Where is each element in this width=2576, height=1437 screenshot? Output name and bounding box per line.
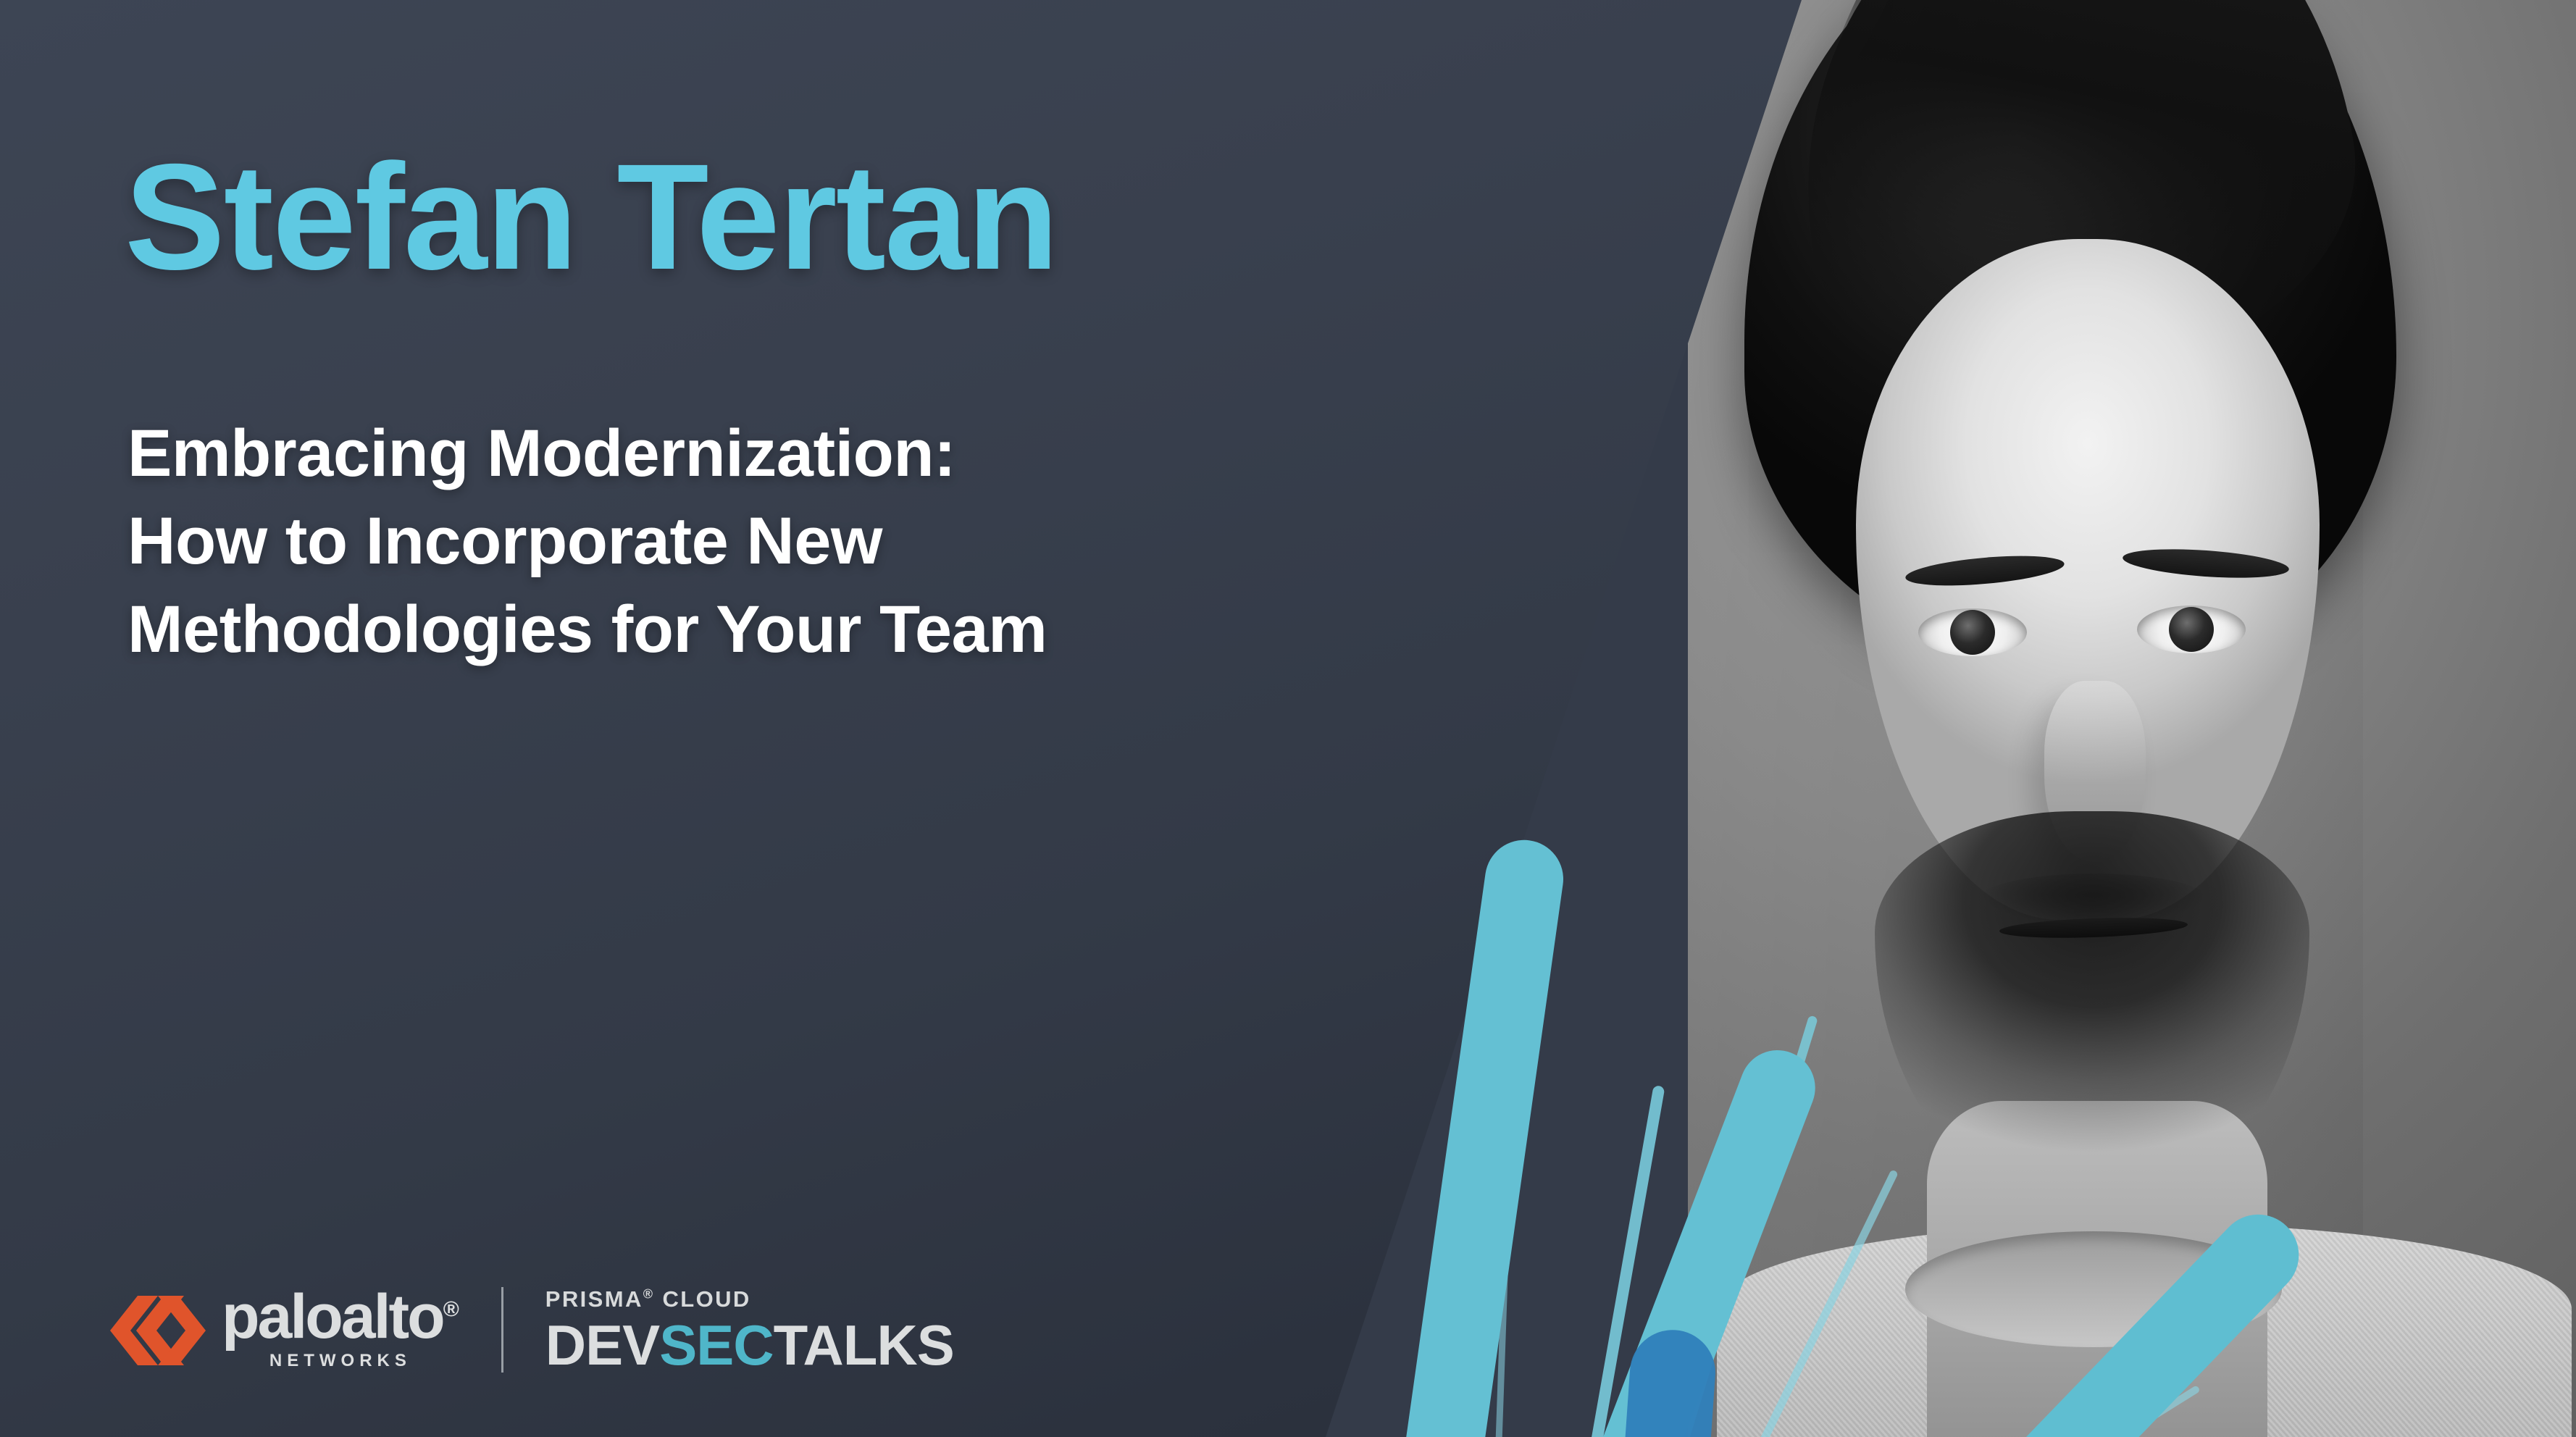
devsectalks-logo: PRISMA® CLOUD DEVSECTALKS bbox=[545, 1286, 954, 1373]
registered-mark-icon: ® bbox=[643, 1287, 655, 1302]
prisma-text: PRISMA bbox=[545, 1286, 643, 1312]
talk-title: Embracing Modernization: How to Incorpor… bbox=[127, 410, 1047, 674]
palo-alto-name: paloalto bbox=[222, 1282, 443, 1352]
logo-divider bbox=[501, 1287, 503, 1373]
portrait-collar bbox=[1905, 1231, 2282, 1347]
dev-text: DEV bbox=[545, 1313, 659, 1377]
talk-title-line-1: Embracing Modernization: bbox=[127, 410, 1047, 498]
footer-logo-lockup: paloalto® NETWORKS PRISMA® CLOUD DEVSECT… bbox=[110, 1286, 954, 1373]
palo-alto-networks-logo: paloalto® NETWORKS bbox=[110, 1289, 459, 1370]
devsectalks-wordmark: DEVSECTALKS bbox=[545, 1317, 954, 1373]
portrait-eye-left bbox=[1918, 608, 2027, 656]
palo-alto-chevron-icon bbox=[110, 1290, 206, 1371]
speaker-name: Stefan Tertan bbox=[125, 142, 1058, 293]
palo-alto-text: paloalto® bbox=[222, 1289, 459, 1346]
speaker-portrait-photo bbox=[1688, 0, 2576, 1437]
portrait-iris-right bbox=[2169, 607, 2214, 652]
cloud-text: CLOUD bbox=[662, 1286, 750, 1312]
portrait-eye-right bbox=[2137, 606, 2246, 653]
prisma-cloud-eyebrow: PRISMA® CLOUD bbox=[545, 1286, 954, 1312]
talk-title-line-2: How to Incorporate New bbox=[127, 498, 1047, 585]
registered-mark-icon: ® bbox=[443, 1298, 459, 1322]
palo-alto-tagline: NETWORKS bbox=[222, 1351, 459, 1371]
slide-content: Stefan Tertan Embracing Modernization: H… bbox=[125, 0, 1501, 1437]
portrait-iris-left bbox=[1950, 610, 1995, 655]
talks-text: TALKS bbox=[774, 1313, 954, 1377]
palo-alto-wordmark: paloalto® NETWORKS bbox=[222, 1289, 459, 1370]
sec-text: SEC bbox=[659, 1313, 773, 1377]
title-slide: Stefan Tertan Embracing Modernization: H… bbox=[0, 0, 2576, 1437]
talk-title-line-3: Methodologies for Your Team bbox=[127, 586, 1047, 674]
